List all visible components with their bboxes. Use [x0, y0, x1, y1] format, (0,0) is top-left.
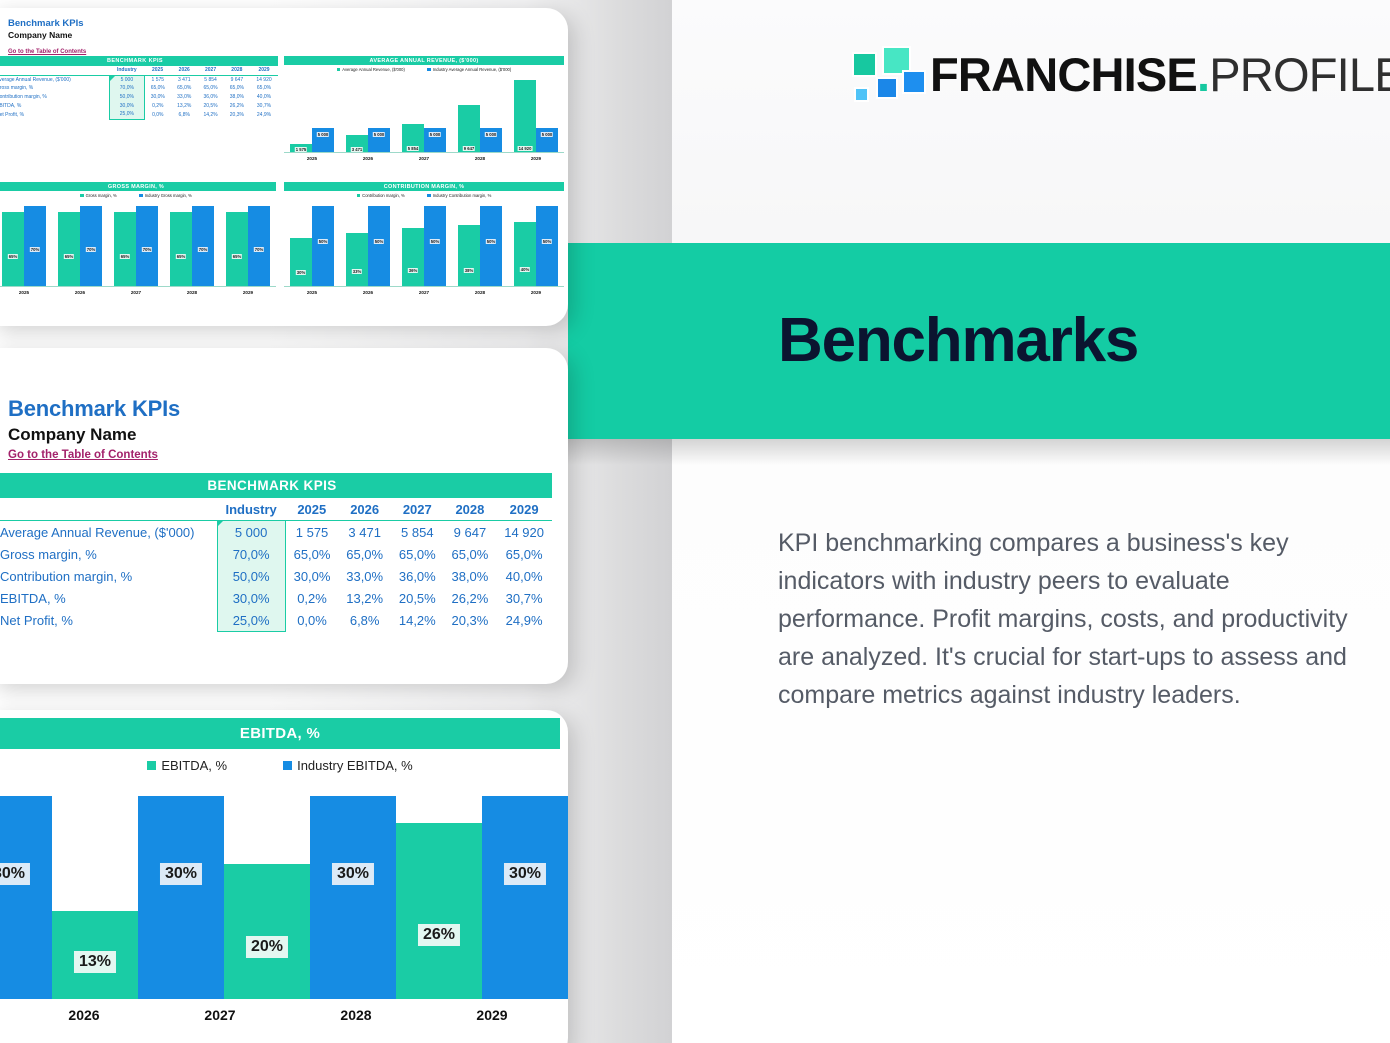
brand-logo[interactable]: FRANCHISE.PROFILES	[852, 46, 1390, 102]
bar-group: 13%30%	[52, 789, 224, 999]
x-axis-tick: 2029	[437, 1007, 547, 1023]
chart-legend: EBITDA, %Industry EBITDA, %	[0, 758, 560, 773]
row-label: Gross margin, %	[0, 84, 110, 93]
cell-value: 38,0%	[224, 93, 250, 102]
bar-value-label: 30%	[332, 863, 374, 885]
table-row: Net Profit, %25,0%0,0%6,8%14,2%20,3%24,9…	[0, 609, 552, 632]
bar-industry: 30%	[482, 796, 568, 999]
sheet-title: Benchmark KPIs	[8, 18, 568, 29]
legend-swatch	[427, 68, 431, 72]
chart-plot-area: 0%30%13%30%20%30%26%30%31%30%	[0, 789, 560, 999]
legend-label: Industry Gross margin, %	[145, 193, 192, 198]
bar-industry: 50%	[424, 206, 446, 286]
legend-swatch	[147, 761, 156, 770]
cell-value: 65,0%	[171, 84, 197, 93]
table-row: Contribution margin, %50,0%30,0%33,0%36,…	[0, 93, 278, 102]
bar-value-label: 9 647	[463, 146, 475, 151]
bar-value-label: 5 000	[373, 132, 385, 137]
table-row: Net Profit, %25,0%0,0%6,8%14,2%20,3%24,9…	[0, 110, 278, 119]
cell-value: 65,0%	[250, 84, 278, 93]
x-axis-tick: 2026	[343, 156, 393, 161]
bar-value-label: 30%	[296, 270, 306, 275]
table-header-year: 2029	[250, 66, 278, 75]
table-row: EBITDA, %30,0%0,2%13,2%20,5%26,2%30,7%	[0, 101, 278, 110]
cell-value: 3 471	[338, 521, 391, 544]
cell-value: 6,8%	[338, 609, 391, 632]
bar-industry: 70%	[24, 206, 46, 286]
bar-group: 20%30%	[224, 789, 396, 999]
cell-industry: 30,0%	[110, 101, 144, 110]
cell-industry: 50,0%	[217, 565, 285, 587]
chart-x-axis: 20252026202720282029	[0, 290, 276, 295]
cell-industry: 50,0%	[110, 93, 144, 102]
x-axis-tick: 2025	[0, 1007, 3, 1023]
table-title: BENCHMARK KPIS	[0, 473, 552, 498]
bar-group: 33%50%	[346, 206, 390, 286]
cell-value: 5 854	[197, 75, 223, 84]
bar-company: 9 647	[458, 105, 480, 152]
chart-x-axis: 20252026202720282029	[284, 290, 564, 295]
cell-value: 65,0%	[144, 84, 171, 93]
x-axis-tick: 2025	[0, 290, 49, 295]
bar-value-label: 50%	[430, 239, 440, 244]
bar-value-label: 70%	[198, 247, 208, 252]
cell-value: 20,3%	[224, 110, 250, 119]
table-header-row: Industry20252026202720282029	[0, 66, 278, 75]
x-axis-tick: 2026	[343, 290, 393, 295]
cell-value: 30,0%	[285, 565, 338, 587]
sheet-header-large: Benchmark KPIs Company Name Go to the Ta…	[0, 348, 568, 463]
bar-value-label: 38%	[464, 268, 474, 273]
bar-industry: 5 000	[536, 128, 558, 152]
bar-company: 65%	[114, 212, 136, 286]
cell-industry: 30,0%	[217, 587, 285, 609]
logo-square-teal-dark	[852, 52, 877, 77]
chart-plot-area: 1 5755 0003 4715 0005 8545 0009 6475 000…	[284, 80, 564, 152]
gross-margin-chart-mini: GROSS MARGIN, %Gross margin, %Industry G…	[0, 182, 276, 318]
legend-label: Contribution margin, %	[362, 193, 405, 198]
bar-industry: 30%	[0, 796, 52, 999]
table-header-blank	[0, 498, 217, 521]
cell-value: 33,0%	[338, 565, 391, 587]
bar-company: 5 854	[402, 124, 424, 152]
cell-value: 14 920	[250, 75, 278, 84]
chart-legend: Contribution margin, %Industry Contribut…	[284, 193, 564, 198]
bar-value-label: 50%	[374, 239, 384, 244]
cell-value: 36,0%	[197, 93, 223, 102]
ebitda-chart: EBITDA, %EBITDA, %Industry EBITDA, %0%30…	[0, 718, 560, 1043]
bar-industry: 50%	[368, 206, 390, 286]
legend-item: Average Annual Revenue, ($'000)	[337, 67, 405, 72]
table-row: EBITDA, %30,0%0,2%13,2%20,5%26,2%30,7%	[0, 587, 552, 609]
x-axis-tick: 2029	[511, 156, 561, 161]
bar-value-label: 40%	[520, 267, 530, 272]
bar-industry: 30%	[138, 796, 224, 999]
bar-group: 65%70%	[2, 206, 46, 286]
legend-item: Industry Average Annual Revenue, ($'000)	[427, 67, 511, 72]
chart-title: AVERAGE ANNUAL REVENUE, ($'000)	[284, 56, 564, 65]
sheet-header: Benchmark KPIs Company Name Go to the Ta…	[0, 8, 568, 58]
chart-plot-area: 30%50%33%50%36%50%38%50%40%50%	[284, 206, 564, 286]
logo-dot: .	[1197, 48, 1209, 101]
table-row: Average Annual Revenue, ($'000)5 0001 57…	[0, 521, 552, 544]
bar-value-label: 5 000	[317, 132, 329, 137]
cell-value: 30,0%	[144, 93, 171, 102]
bar-company: 65%	[58, 212, 80, 286]
cell-value: 38,0%	[444, 565, 497, 587]
cell-value: 26,2%	[444, 587, 497, 609]
bar-value-label: 65%	[120, 254, 130, 259]
legend-item: EBITDA, %	[147, 758, 227, 773]
bar-group: 3 4715 000	[346, 80, 390, 152]
cell-industry: 25,0%	[110, 110, 144, 119]
table-header-year: 2027	[197, 66, 223, 75]
bar-group: 30%50%	[290, 206, 334, 286]
bar-value-label: 5 854	[407, 146, 419, 151]
x-axis-tick: 2028	[455, 290, 505, 295]
bar-group: 36%50%	[402, 206, 446, 286]
bar-value-label: 70%	[142, 247, 152, 252]
bar-value-label: 50%	[486, 239, 496, 244]
cell-value: 65,0%	[444, 543, 497, 565]
right-background	[672, 0, 1390, 1043]
cell-value: 14 920	[496, 521, 552, 544]
bar-group: 5 8545 000	[402, 80, 446, 152]
legend-label: Industry EBITDA, %	[297, 758, 413, 773]
bar-group: 1 5755 000	[290, 80, 334, 152]
cell-value: 0,2%	[144, 101, 171, 110]
cell-value: 40,0%	[250, 93, 278, 102]
bar-value-label: 65%	[176, 254, 186, 259]
row-label: Gross margin, %	[0, 543, 217, 565]
cell-value: 40,0%	[496, 565, 552, 587]
table-header-year: 2027	[391, 498, 444, 521]
slide-page: Benchmark KPIs Company Name Go to the Ta…	[0, 0, 1390, 1043]
legend-swatch	[427, 194, 431, 198]
cell-value: 65,0%	[285, 543, 338, 565]
cell-industry: 70,0%	[110, 84, 144, 93]
x-axis-tick: 2027	[165, 1007, 275, 1023]
bar-value-label: 30%	[504, 863, 546, 885]
cell-value: 24,9%	[496, 609, 552, 632]
cell-value: 65,0%	[224, 84, 250, 93]
row-label: Average Annual Revenue, ($'000)	[0, 75, 110, 84]
page-title: Benchmarks	[778, 305, 1138, 376]
chart-axis-line	[284, 286, 564, 287]
bar-industry: 5 000	[424, 128, 446, 152]
bar-industry: 70%	[136, 206, 158, 286]
legend-item: Gross margin, %	[80, 193, 117, 198]
cell-value: 1 575	[144, 75, 171, 84]
cell-value: 13,2%	[171, 101, 197, 110]
bar-company: 1 575	[290, 144, 312, 152]
cell-value: 30,7%	[496, 587, 552, 609]
bar-group: 65%70%	[226, 206, 270, 286]
bar-industry: 5 000	[368, 128, 390, 152]
bar-company: 65%	[2, 212, 24, 286]
table-header-year: 2028	[444, 498, 497, 521]
bar-company: 36%	[402, 228, 424, 286]
logo-wordmark: FRANCHISE.PROFILES	[930, 51, 1390, 98]
table-header-year: 2025	[144, 66, 171, 75]
cell-value: 65,0%	[391, 543, 444, 565]
table-row: Gross margin, %70,0%65,0%65,0%65,0%65,0%…	[0, 84, 278, 93]
table-header-blank	[0, 66, 110, 75]
legend-label: Gross margin, %	[86, 193, 117, 198]
cell-value: 0,0%	[285, 609, 338, 632]
chart-x-axis: 20252026202720282029	[0, 1007, 560, 1023]
x-axis-tick: 2027	[399, 156, 449, 161]
chart-title: GROSS MARGIN, %	[0, 182, 276, 191]
row-label: Average Annual Revenue, ($'000)	[0, 521, 217, 544]
benchmark-kpis-table: BENCHMARK KPISIndustry202520262027202820…	[0, 473, 552, 632]
bar-value-label: 50%	[542, 239, 552, 244]
spreadsheet-card-kpi-table[interactable]: Benchmark KPIs Company Name Go to the Ta…	[0, 348, 568, 684]
bar-company: 20%	[224, 864, 310, 999]
bar-group: 65%70%	[58, 206, 102, 286]
cell-value: 6,8%	[171, 110, 197, 119]
bar-company: 30%	[290, 238, 312, 286]
bar-value-label: 26%	[418, 924, 460, 946]
cell-value: 0,0%	[144, 110, 171, 119]
table-header-industry: Industry	[217, 498, 285, 521]
table-header-row: Industry20252026202720282029	[0, 498, 552, 521]
sheet-subtitle: Company Name	[8, 425, 568, 445]
bar-group: 65%70%	[170, 206, 214, 286]
cell-value: 65,0%	[197, 84, 223, 93]
cell-value: 20,5%	[391, 587, 444, 609]
logo-word-franchise: FRANCHISE	[930, 48, 1197, 101]
bar-value-label: 65%	[64, 254, 74, 259]
sheet-subtitle: Company Name	[8, 30, 568, 40]
cell-value: 20,3%	[444, 609, 497, 632]
bar-industry: 70%	[248, 206, 270, 286]
cell-value: 36,0%	[391, 565, 444, 587]
logo-word-profiles: PROFILES	[1209, 48, 1390, 101]
cell-value: 14,2%	[197, 110, 223, 119]
row-label: EBITDA, %	[0, 587, 217, 609]
x-axis-tick: 2027	[111, 290, 161, 295]
x-axis-tick: 2028	[301, 1007, 411, 1023]
bar-company: 33%	[346, 233, 368, 286]
bar-industry: 50%	[536, 206, 558, 286]
chart-x-axis: 20252026202720282029	[284, 156, 564, 161]
legend-item: Contribution margin, %	[357, 193, 405, 198]
logo-square-blue-small	[876, 77, 898, 99]
table-header-year: 2026	[171, 66, 197, 75]
bar-industry: 30%	[310, 796, 396, 999]
bar-industry: 70%	[80, 206, 102, 286]
body-paragraph: KPI benchmarking compares a business's k…	[778, 524, 1354, 714]
bar-company: 38%	[458, 225, 480, 286]
cell-value: 65,0%	[496, 543, 552, 565]
table-row: Gross margin, %70,0%65,0%65,0%65,0%65,0%…	[0, 543, 552, 565]
chart-legend: Average Annual Revenue, ($'000)Industry …	[284, 67, 564, 72]
cell-value: 9 647	[224, 75, 250, 84]
table-header-year: 2026	[338, 498, 391, 521]
bar-group: 65%70%	[114, 206, 158, 286]
bar-value-label: 1 575	[295, 147, 307, 152]
bar-company: 65%	[226, 212, 248, 286]
average-annual-revenue-chart-mini: AVERAGE ANNUAL REVENUE, ($'000)Average A…	[284, 56, 564, 180]
chart-title: EBITDA, %	[0, 718, 560, 749]
table-header-industry: Industry	[110, 66, 144, 75]
x-axis-tick: 2028	[167, 290, 217, 295]
bar-group: 26%30%	[396, 789, 568, 999]
bar-value-label: 5 000	[541, 132, 553, 137]
bar-value-label: 65%	[8, 254, 18, 259]
bar-industry: 70%	[192, 206, 214, 286]
cell-value: 65,0%	[338, 543, 391, 565]
bar-group: 14 9205 000	[514, 80, 558, 152]
chart-legend: Gross margin, %Industry Gross margin, %	[0, 193, 276, 198]
x-axis-tick: 2025	[287, 156, 337, 161]
logo-square-sky	[854, 87, 869, 102]
table-header-year: 2028	[224, 66, 250, 75]
x-axis-tick: 2029	[511, 290, 561, 295]
kpi-table-block: BENCHMARK KPISIndustry202520262027202820…	[0, 473, 552, 632]
legend-swatch	[139, 194, 143, 198]
table-title-band: BENCHMARK KPIS	[0, 56, 278, 66]
x-axis-tick: 2029	[223, 290, 273, 295]
cell-value: 13,2%	[338, 587, 391, 609]
bar-group: 38%50%	[458, 206, 502, 286]
bar-group: 0%30%	[0, 789, 52, 999]
spreadsheet-card-overview[interactable]: Benchmark KPIs Company Name Go to the Ta…	[0, 8, 568, 326]
table-title-band: BENCHMARK KPIS	[0, 473, 552, 498]
bar-company: 40%	[514, 222, 536, 286]
legend-item: Industry Contribution margin, %	[427, 193, 491, 198]
bar-industry: 50%	[480, 206, 502, 286]
chart-plot-area: 65%70%65%70%65%70%65%70%65%70%	[0, 206, 276, 286]
cell-value: 1 575	[285, 521, 338, 544]
bar-value-label: 14 920	[518, 146, 533, 151]
x-axis-tick: 2027	[399, 290, 449, 295]
legend-item: Industry Gross margin, %	[139, 193, 192, 198]
bar-value-label: 5 000	[429, 132, 441, 137]
x-axis-tick: 2026	[29, 1007, 139, 1023]
table-header-year: 2025	[285, 498, 338, 521]
bar-company: 3 471	[346, 135, 368, 152]
bar-value-label: 30%	[160, 863, 202, 885]
legend-label: EBITDA, %	[161, 758, 227, 773]
legend-swatch	[283, 761, 292, 770]
bar-value-label: 13%	[74, 951, 116, 973]
bar-value-label: 5 000	[485, 132, 497, 137]
row-label: Net Profit, %	[0, 110, 110, 119]
cell-industry: 25,0%	[217, 609, 285, 632]
table-of-contents-link[interactable]: Go to the Table of Contents	[8, 449, 158, 461]
table-header-year: 2029	[496, 498, 552, 521]
cell-value: 33,0%	[171, 93, 197, 102]
cell-industry: 5 000	[110, 75, 144, 84]
mini-kpi-table-block: BENCHMARK KPISIndustry202520262027202820…	[0, 56, 278, 120]
bar-value-label: 3 471	[351, 147, 363, 152]
table-title: BENCHMARK KPIS	[0, 56, 278, 66]
x-axis-tick: 2026	[55, 290, 105, 295]
table-of-contents-link[interactable]: Go to the Table of Contents	[8, 49, 86, 55]
legend-label: Average Annual Revenue, ($'000)	[342, 67, 405, 72]
legend-swatch	[80, 194, 84, 198]
row-label: Contribution margin, %	[0, 93, 110, 102]
bar-company: 26%	[396, 823, 482, 999]
legend-item: Industry EBITDA, %	[283, 758, 413, 773]
bar-value-label: 70%	[30, 247, 40, 252]
cell-value: 0,2%	[285, 587, 338, 609]
chart-title: CONTRIBUTION MARGIN, %	[284, 182, 564, 191]
bar-company: 14 920	[514, 80, 536, 152]
benchmark-kpis-table-mini: BENCHMARK KPISIndustry202520262027202820…	[0, 56, 278, 120]
cell-value: 9 647	[444, 521, 497, 544]
bar-industry: 5 000	[312, 128, 334, 152]
x-axis-tick: 2025	[287, 290, 337, 295]
cell-value: 26,2%	[224, 101, 250, 110]
spreadsheet-card-ebitda-chart[interactable]: EBITDA, %EBITDA, %Industry EBITDA, %0%30…	[0, 710, 568, 1043]
bar-value-label: 70%	[86, 247, 96, 252]
row-label: Contribution margin, %	[0, 565, 217, 587]
bar-company: 13%	[52, 911, 138, 999]
cell-value: 24,9%	[250, 110, 278, 119]
logo-squares-icon	[852, 46, 914, 102]
legend-swatch	[357, 194, 361, 198]
table-row: Average Annual Revenue, ($'000)5 0001 57…	[0, 75, 278, 84]
bar-value-label: 65%	[232, 254, 242, 259]
bar-industry: 5 000	[480, 128, 502, 152]
chart-axis-line	[0, 286, 276, 287]
bar-industry: 50%	[312, 206, 334, 286]
legend-label: Industry Contribution margin, %	[433, 193, 492, 198]
logo-square-blue-large	[902, 70, 926, 94]
bar-company: 65%	[170, 212, 192, 286]
chart-axis-line	[284, 152, 564, 153]
cell-value: 14,2%	[391, 609, 444, 632]
cell-industry: 70,0%	[217, 543, 285, 565]
x-axis-tick: 2028	[455, 156, 505, 161]
cell-value: 20,5%	[197, 101, 223, 110]
bar-value-label: 20%	[246, 936, 288, 958]
bar-group: 40%50%	[514, 206, 558, 286]
contribution-margin-chart-mini: CONTRIBUTION MARGIN, %Contribution margi…	[284, 182, 564, 318]
bar-group: 9 6475 000	[458, 80, 502, 152]
cell-industry: 5 000	[217, 521, 285, 544]
cell-value: 5 854	[391, 521, 444, 544]
bar-value-label: 36%	[408, 268, 418, 273]
sheet-title: Benchmark KPIs	[8, 396, 568, 422]
cell-value: 3 471	[171, 75, 197, 84]
row-label: EBITDA, %	[0, 101, 110, 110]
bar-value-label: 50%	[318, 239, 328, 244]
bar-value-label: 30%	[0, 863, 30, 885]
legend-label: Industry Average Annual Revenue, ($'000)	[433, 67, 511, 72]
bar-value-label: 70%	[254, 247, 264, 252]
row-label: Net Profit, %	[0, 609, 217, 632]
table-row: Contribution margin, %50,0%30,0%33,0%36,…	[0, 565, 552, 587]
cell-value: 30,7%	[250, 101, 278, 110]
legend-swatch	[337, 68, 341, 72]
bar-value-label: 33%	[352, 269, 362, 274]
